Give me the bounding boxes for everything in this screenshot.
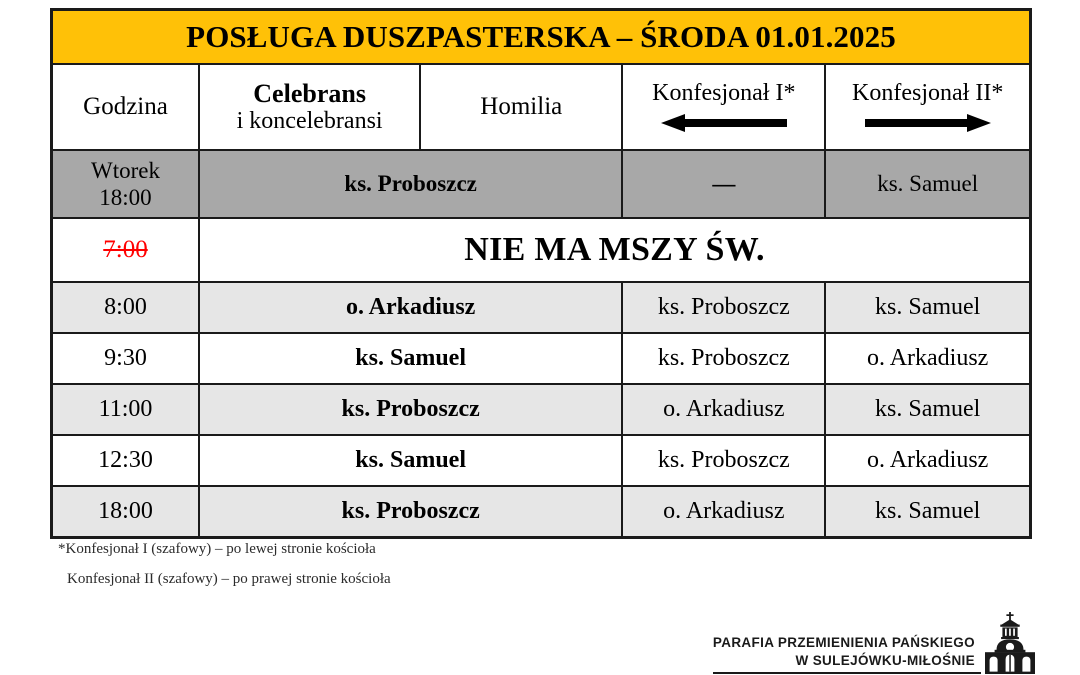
header-konfesjonal-1: Konfesjonał I* xyxy=(622,64,825,150)
table-header-row: Godzina Celebrans i koncelebransi Homili… xyxy=(52,64,1031,150)
title-row: POSŁUGA DUSZPASTERSKA – ŚRODA 01.01.2025 xyxy=(52,10,1031,65)
row-konfesjonal-1: ks. Proboszcz xyxy=(622,282,825,333)
row-konfesjonal-1: ks. Proboszcz xyxy=(622,333,825,384)
no-mass-time-struck: 7:00 xyxy=(103,236,147,263)
row-celebrans: o. Arkadiusz xyxy=(199,282,622,333)
header-homilia-label: Homilia xyxy=(480,93,562,120)
tuesday-time-label: 18:00 xyxy=(53,184,198,211)
tuesday-konfesjonal-1: — xyxy=(622,150,825,218)
arrow-right-icon xyxy=(826,114,1029,134)
arrow-left-icon xyxy=(623,114,824,134)
row-konfesjonal-2: o. Arkadiusz xyxy=(825,333,1030,384)
header-homilia: Homilia xyxy=(420,64,622,150)
row-time: 18:00 xyxy=(52,486,200,538)
no-mass-time-cell: 7:00 xyxy=(52,218,200,282)
parish-logo-line2: W SULEJÓWKU-MIŁOŚNIE xyxy=(713,652,975,670)
row-time: 11:00 xyxy=(52,384,200,435)
page-title: POSŁUGA DUSZPASTERSKA – ŚRODA 01.01.2025 xyxy=(52,10,1031,65)
row-konfesjonal-2: ks. Samuel xyxy=(825,384,1030,435)
row-konfesjonal-1: ks. Proboszcz xyxy=(622,435,825,486)
schedule-poster: POSŁUGA DUSZPASTERSKA – ŚRODA 01.01.2025… xyxy=(0,0,1080,675)
parish-logo-text: PARAFIA PRZEMIENIENIA PAŃSKIEGO W SULEJÓ… xyxy=(713,634,981,674)
tuesday-time-cell: Wtorek 18:00 xyxy=(52,150,200,218)
table-row: 8:00 o. Arkadiusz ks. Proboszcz ks. Samu… xyxy=(52,282,1031,333)
row-time: 9:30 xyxy=(52,333,200,384)
tuesday-day-label: Wtorek xyxy=(53,157,198,184)
tuesday-konfesjonal-2: ks. Samuel xyxy=(825,150,1030,218)
footnotes: *Konfesjonał I (szafowy) – po lewej stro… xyxy=(58,541,678,600)
row-konfesjonal-2: o. Arkadiusz xyxy=(825,435,1030,486)
footnote-konfesjonal-1: *Konfesjonał I (szafowy) – po lewej stro… xyxy=(58,541,678,558)
table-row-tuesday: Wtorek 18:00 ks. Proboszcz — ks. Samuel xyxy=(52,150,1031,218)
tuesday-celebrans: ks. Proboszcz xyxy=(199,150,622,218)
row-konfesjonal-2: ks. Samuel xyxy=(825,282,1030,333)
table-row: 11:00 ks. Proboszcz o. Arkadiusz ks. Sam… xyxy=(52,384,1031,435)
no-mass-notice: NIE MA MSZY ŚW. xyxy=(199,218,1031,282)
row-time: 8:00 xyxy=(52,282,200,333)
header-celebrans-main: Celebrans xyxy=(253,80,366,109)
row-konfesjonal-2: ks. Samuel xyxy=(825,486,1030,538)
table-row: 9:30 ks. Samuel ks. Proboszcz o. Arkadiu… xyxy=(52,333,1031,384)
row-time: 12:30 xyxy=(52,435,200,486)
row-konfesjonal-1: o. Arkadiusz xyxy=(622,384,825,435)
header-godzina: Godzina xyxy=(52,64,200,150)
table-row-no-mass: 7:00 NIE MA MSZY ŚW. xyxy=(52,218,1031,282)
row-celebrans: ks. Samuel xyxy=(199,435,622,486)
header-celebrans-sub: i koncelebransi xyxy=(237,108,383,134)
header-konfesjonal-2-label: Konfesjonał II* xyxy=(826,80,1029,106)
header-konfesjonal-2: Konfesjonał II* xyxy=(825,64,1030,150)
header-celebrans: Celebrans i koncelebransi xyxy=(199,64,420,150)
row-celebrans: ks. Proboszcz xyxy=(199,486,622,538)
footnote-konfesjonal-2: Konfesjonał II (szafowy) – po prawej str… xyxy=(58,571,678,588)
row-konfesjonal-1: o. Arkadiusz xyxy=(622,486,825,538)
parish-logo: PARAFIA PRZEMIENIENIA PAŃSKIEGO W SULEJÓ… xyxy=(733,612,1035,674)
table-row: 18:00 ks. Proboszcz o. Arkadiusz ks. Sam… xyxy=(52,486,1031,538)
row-celebrans: ks. Proboszcz xyxy=(199,384,622,435)
church-icon xyxy=(985,612,1035,674)
header-konfesjonal-1-label: Konfesjonał I* xyxy=(623,80,824,106)
header-godzina-label: Godzina xyxy=(83,93,168,120)
table-row: 12:30 ks. Samuel ks. Proboszcz o. Arkadi… xyxy=(52,435,1031,486)
parish-logo-line1: PARAFIA PRZEMIENIENIA PAŃSKIEGO xyxy=(713,634,975,652)
pastoral-schedule-table: POSŁUGA DUSZPASTERSKA – ŚRODA 01.01.2025… xyxy=(50,8,1032,539)
row-celebrans: ks. Samuel xyxy=(199,333,622,384)
